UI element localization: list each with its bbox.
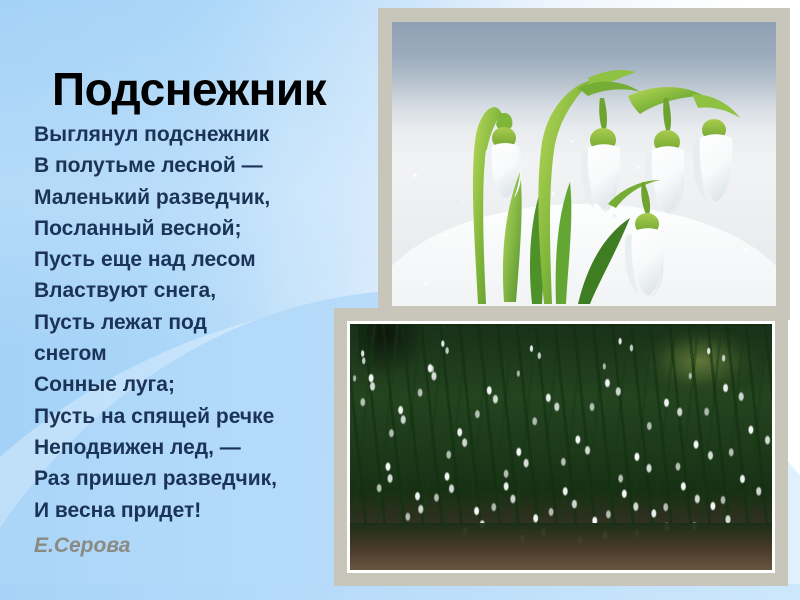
poem-line: Выглянул подснежник — [34, 119, 374, 150]
poem-line: Неподвижен лед, — — [34, 432, 374, 463]
poem-line: В полутьме лесной — — [34, 150, 374, 181]
presentation-slide: Подснежник Выглянул подснежник В полутьм… — [0, 0, 800, 600]
snowdrop-flowers-illustration — [392, 22, 776, 306]
poem-line: Пусть на спящей речке — [34, 401, 374, 432]
poem-line: Пусть еще над лесом — [34, 244, 374, 275]
poem-line: снегом — [34, 338, 374, 369]
poem-line: Пусть лежат под — [34, 307, 374, 338]
poem-author: Е.Серова — [34, 534, 374, 558]
poem-line: Раз пришел разведчик, — [34, 463, 374, 494]
meadow-forest-floor — [350, 523, 772, 570]
snowdrops-in-snow-frame — [378, 8, 790, 320]
poem-line: Сонные луга; — [34, 369, 374, 400]
poem-line: Властвуют снега, — [34, 275, 374, 306]
poem-line: И весна придет! — [34, 495, 374, 526]
snowdrop-meadow-photo — [347, 321, 775, 573]
background-bottom-strip — [0, 584, 800, 600]
poem-text-block: Выглянул подснежник В полутьме лесной — … — [34, 119, 374, 558]
poem-line: Посланный весной; — [34, 213, 374, 244]
page-title: Подснежник — [52, 66, 326, 112]
snowdrops-in-snow-photo — [392, 22, 776, 306]
snowdrop-meadow-frame — [334, 308, 788, 586]
poem-line: Маленький разведчик, — [34, 182, 374, 213]
